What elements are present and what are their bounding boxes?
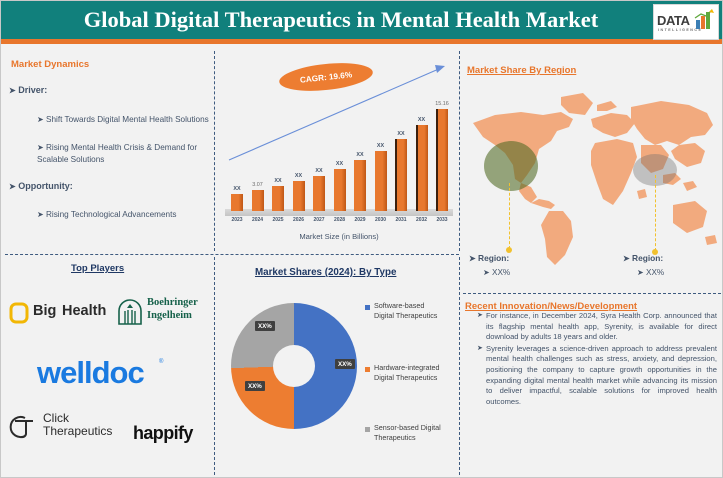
x-tick-2030: 2030 (371, 217, 391, 223)
driver-item-2: ➤ Rising Mental Health Crisis & Demand f… (37, 142, 209, 165)
bar-2023 (231, 194, 243, 211)
bar-2027 (313, 176, 325, 211)
bullet-arrow-icon: ➤ (9, 86, 16, 95)
opportunity-heading-label: Opportunity: (18, 181, 73, 191)
bar-label-2023: XX (226, 186, 248, 192)
logo-bar-3 (706, 12, 710, 29)
region-marker-1-value: XX% (492, 268, 510, 277)
welldoc-word: welldoc (37, 355, 144, 391)
region-marker-1: ➤ Region: (469, 253, 509, 263)
click-therapeutics-word-1: Click (43, 411, 69, 425)
news-item-2-text: Syrenity leverages a science-driven appr… (486, 344, 717, 406)
bar-label-2026: XX (288, 173, 310, 179)
x-tick-2024: 2024 (248, 217, 268, 223)
bar-label-2024: 3.07 (247, 182, 269, 188)
divider-left-bottom (214, 257, 215, 475)
divider-horizontal-left (5, 254, 459, 255)
bullet-arrow-icon: ➤ (623, 254, 630, 263)
news-list: ➤ For instance, in December 2024, Syra H… (477, 311, 717, 408)
bar-label-2032: XX (411, 117, 433, 123)
legend-hardware-line1: Hardware-integrated (374, 363, 440, 372)
x-tick-2031: 2031 (391, 217, 411, 223)
news-item-1: ➤ For instance, in December 2024, Syra H… (477, 311, 717, 343)
top-players-logos: Big Health Boehringer Ingelheim welldoc … (5, 263, 213, 475)
bar-2033 (436, 109, 448, 211)
legend-sensor-line2: Therapeutics (374, 433, 416, 442)
region-marker-2-value: XX% (646, 268, 664, 277)
market-share-donut-chart: XX% XX% XX% Software-based Digital Thera… (219, 259, 459, 477)
bar-label-2025: XX (267, 178, 289, 184)
logo-wordmark: DATA (657, 13, 690, 28)
legend-sensor-line1: Sensor-based Digital (374, 423, 441, 432)
x-tick-2029: 2029 (350, 217, 370, 223)
happify-word: happify (133, 423, 193, 444)
bullet-arrow-icon: ➤ (37, 115, 44, 124)
market-dynamics-heading: Market Dynamics (11, 59, 89, 70)
news-panel: ➤ For instance, in December 2024, Syra H… (463, 295, 721, 477)
region-marker-2-label: Region: (632, 253, 663, 263)
bar-chart-plot: XX3.07XXXXXXXXXXXXXXXX15.16 CAGR: 19.6% (223, 56, 455, 216)
driver-heading-label: Driver: (18, 85, 47, 95)
boehringer-mark-icon (117, 298, 143, 326)
driver-item-1: ➤ Shift Towards Digital Mental Health So… (37, 114, 209, 126)
big-health-mark-icon (9, 302, 29, 324)
bar-label-2031: XX (390, 131, 412, 137)
region-marker-1-label: Region: (478, 253, 509, 263)
x-tick-2023: 2023 (227, 217, 247, 223)
opportunity-item-1-label: Rising Technological Advancements (46, 210, 176, 219)
region-marker-1-value-row: ➤ XX% (483, 267, 510, 279)
page-title: Global Digital Therapeutics in Mental He… (41, 3, 641, 39)
bar-2026 (293, 181, 305, 211)
legend-hardware-line2: Digital Therapeutics (374, 373, 437, 382)
big-health-word-1: Big (33, 303, 56, 319)
boehringer-word-1: Boehringer (147, 297, 198, 308)
bullet-arrow-icon: ➤ (37, 143, 44, 152)
news-item-1-text: For instance, in December 2024, Syra Hea… (486, 311, 717, 341)
brand-logo[interactable]: DATA INTELLIGENCE (653, 4, 719, 40)
opportunity-heading: ➤ Opportunity: (9, 181, 73, 191)
donut-data-label-sensor: XX% (255, 321, 275, 331)
news-item-2: ➤ Syrenity leverages a science-driven ap… (477, 344, 717, 408)
region-circle-north-america (484, 141, 538, 191)
divider-left-top (214, 51, 215, 251)
x-tick-2028: 2028 (330, 217, 350, 223)
bullet-arrow-icon: ➤ (483, 268, 490, 277)
divider-mid-top (459, 51, 460, 251)
bar-2032 (416, 125, 428, 212)
bar-label-2030: XX (370, 143, 392, 149)
opportunity-item-1: ➤ Rising Technological Advancements (37, 209, 213, 221)
market-size-bar-chart: XX3.07XXXXXXXXXXXXXXXX15.16 CAGR: 19.6% … (223, 56, 455, 246)
region-marker-2-value-row: ➤ XX% (637, 267, 664, 279)
bar-label-2033: 15.16 (431, 101, 453, 107)
divider-horizontal-right (463, 293, 721, 294)
bar-2028 (334, 169, 346, 211)
x-tick-2033: 2033 (432, 217, 452, 223)
cagr-label: CAGR: 19.6% (300, 70, 353, 84)
driver-item-1-label: Shift Towards Digital Mental Health Solu… (46, 115, 209, 124)
x-axis-ticks: 2023202420252026202720282029203020312032… (223, 216, 455, 228)
bar-label-2029: XX (349, 152, 371, 158)
bullet-arrow-icon: ➤ (637, 268, 644, 277)
bullet-arrow-icon: ➤ (477, 344, 483, 355)
legend-swatch-software (365, 305, 370, 310)
bar-2024 (252, 190, 264, 211)
bullet-arrow-icon: ➤ (477, 311, 483, 322)
x-tick-2026: 2026 (289, 217, 309, 223)
click-therapeutics-word-2: Therapeutics (43, 424, 112, 438)
x-tick-2027: 2027 (309, 217, 329, 223)
bar-label-2027: XX (308, 168, 330, 174)
bar-2030 (375, 151, 387, 211)
click-therapeutics-mark-icon (9, 412, 37, 442)
bar-label-2028: XX (329, 161, 351, 167)
region-pin-line-1 (509, 183, 510, 249)
infographic-page: Global Digital Therapeutics in Mental He… (0, 0, 723, 478)
x-tick-2025: 2025 (268, 217, 288, 223)
boehringer-word-2: Ingelheim (147, 310, 192, 321)
chart-x-axis-label: Market Size (in Billions) (223, 232, 455, 241)
driver-item-2-label: Rising Mental Health Crisis & Demand for… (37, 143, 197, 164)
header-accent-rule (1, 39, 723, 44)
legend-software-line1: Software-based (374, 301, 424, 310)
driver-heading: ➤ Driver: (9, 85, 47, 95)
logo-bar-1 (696, 20, 700, 29)
legend-swatch-hardware (365, 367, 370, 372)
donut-data-label-hardware: XX% (245, 381, 265, 391)
bar-2031 (395, 139, 407, 211)
legend-software-line2: Digital Therapeutics (374, 311, 437, 320)
region-pin-line-2 (655, 175, 656, 251)
bullet-arrow-icon: ➤ (37, 210, 44, 219)
big-health-word-2: Health (62, 303, 106, 319)
bar-2025 (272, 186, 284, 211)
region-marker-2: ➤ Region: (623, 253, 663, 263)
donut-hole (273, 345, 315, 387)
bullet-arrow-icon: ➤ (469, 254, 476, 263)
bar-2029 (354, 160, 366, 211)
legend-swatch-sensor (365, 427, 370, 432)
x-tick-2032: 2032 (412, 217, 432, 223)
welldoc-registered-icon: ® (159, 359, 163, 365)
bullet-arrow-icon: ➤ (9, 182, 16, 191)
logo-bar-2 (701, 16, 705, 29)
donut-data-label-software: XX% (335, 359, 355, 369)
